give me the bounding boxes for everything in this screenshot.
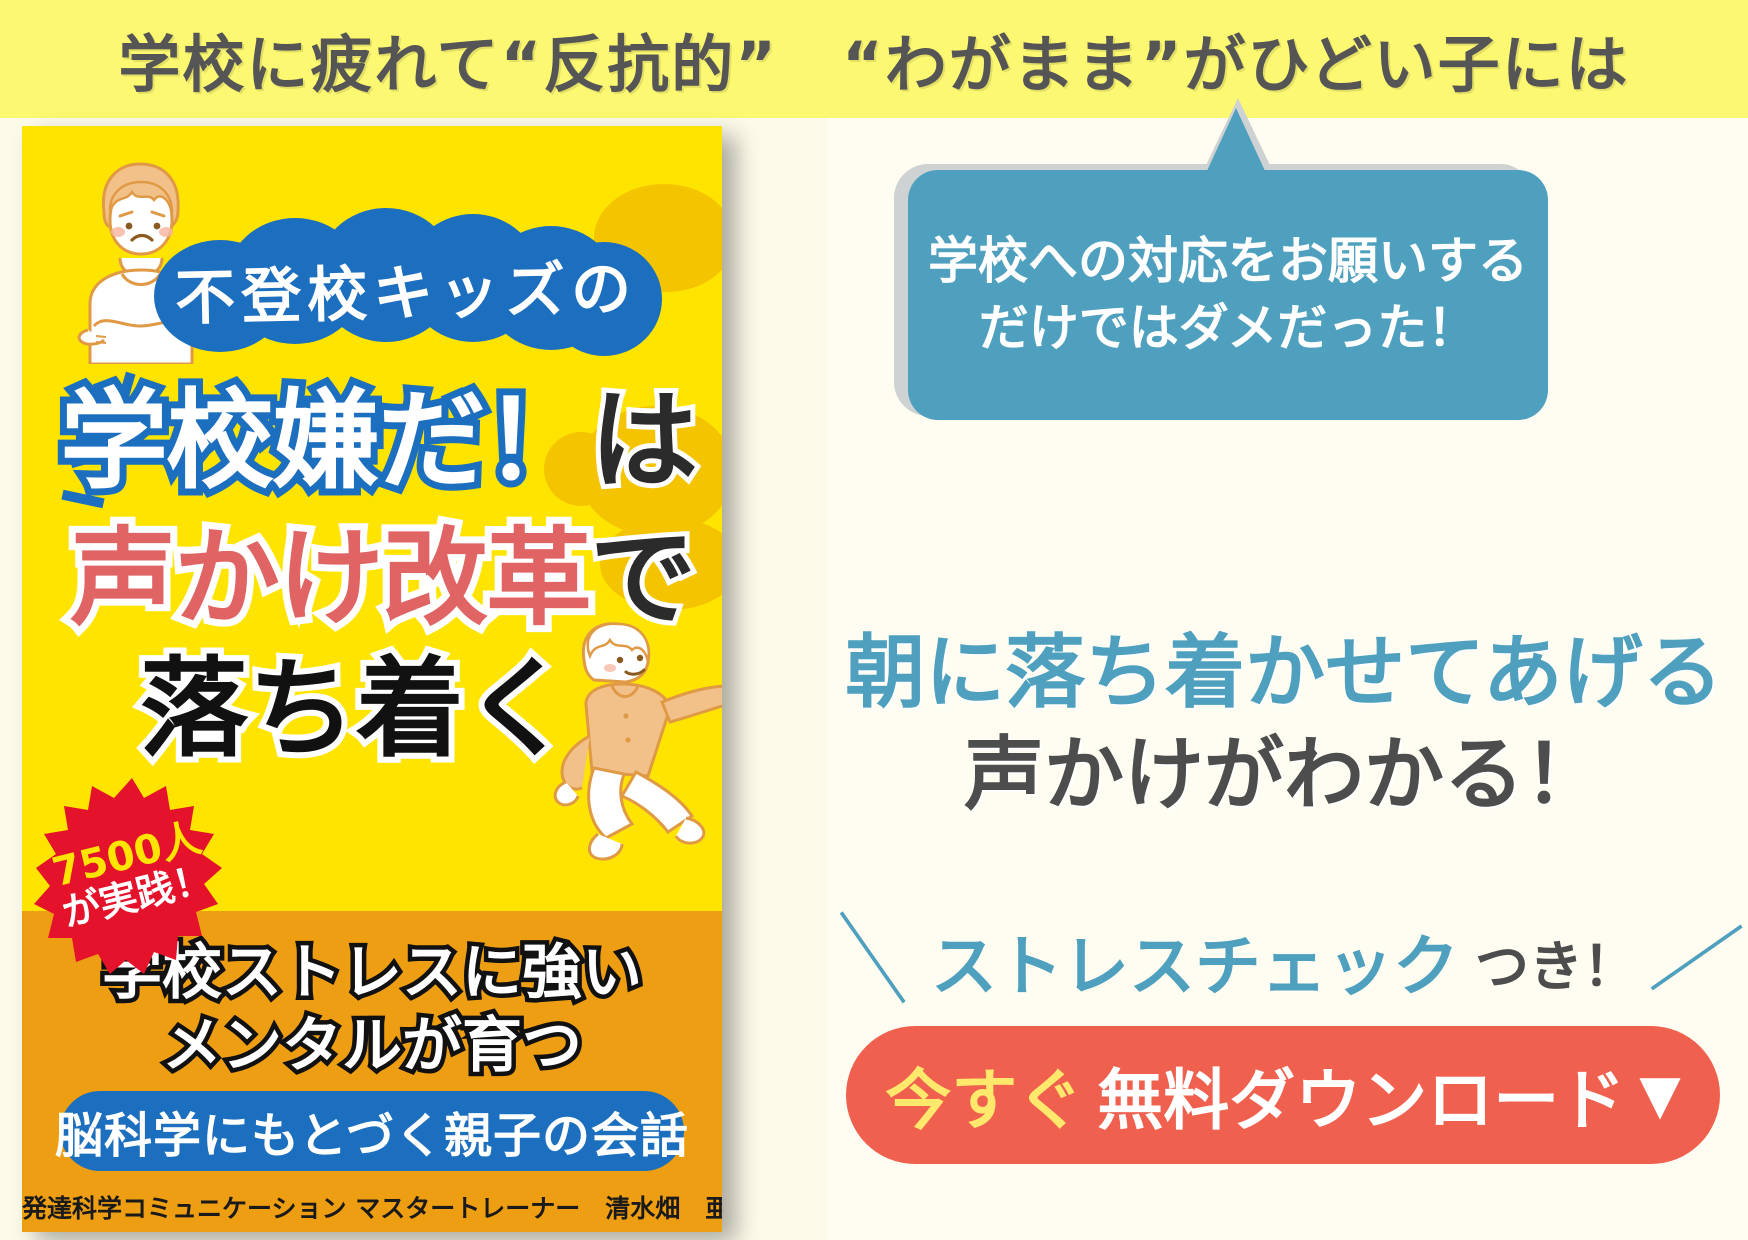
book-title-highlight-2: 声かけ改革	[70, 517, 590, 640]
cta-accent-label: 今すぐ	[885, 1047, 1083, 1143]
download-cta-button[interactable]: 今すぐ 無料ダウンロード ▼	[846, 1026, 1720, 1164]
book-blob-label: 不登校キッズの	[159, 217, 654, 359]
header-banner: 学校に疲れて“反抗的” “わがまま”がひどい子には	[0, 0, 1748, 118]
stress-check-row: ＼ ストレスチェック つき！ ／	[820, 906, 1748, 1016]
headline-line-1: 朝に落ち着かせてあげる	[820, 608, 1748, 724]
book-pill-text: 脳科学にもとづく親子の会話	[55, 1096, 689, 1166]
author-credit: 発達科学コミュニケーション マスタートレーナー 清水畑 亜希子	[22, 1189, 722, 1225]
speech-bubble-tail	[1200, 108, 1272, 186]
triangle-down-icon: ▼	[1639, 1068, 1681, 1122]
cta-main-label: 無料ダウンロード	[1097, 1047, 1625, 1143]
book-title-tail-2: で	[590, 517, 696, 640]
speech-bubble-line-1: 学校への対応をお願いする	[928, 228, 1528, 296]
speech-bubble: 学校への対応をお願いする だけではダメだった！	[908, 170, 1548, 440]
speech-bubble-body: 学校への対応をお願いする だけではダメだった！	[908, 170, 1548, 420]
stress-check-tail-text: つき！	[1475, 922, 1637, 1001]
book-title-line-1: 学校嫌だ！は	[60, 388, 700, 496]
page-title: 学校に疲れて“反抗的” “わがまま”がひどい子には	[118, 14, 1629, 104]
speech-bubble-line-2: だけではダメだった！	[979, 295, 1478, 363]
slash-right-icon: ／	[1646, 911, 1746, 1011]
book-subtitle-line-2: メンタルが育つ	[22, 1010, 722, 1083]
book-cover-image: 不登校キッズの 学校嫌だ！は 声かけ改革で 落ち着く	[22, 126, 722, 1232]
book-title-tail-1: は	[590, 379, 698, 504]
book-title-highlight-1: 学校嫌だ！	[60, 379, 590, 504]
stress-check-main-text: ストレスチェック	[931, 913, 1459, 1009]
book-title-line-2: 声かけ改革で	[70, 526, 710, 632]
book-title-line-3: 落ち着く	[140, 656, 722, 764]
slash-left-icon: ＼	[822, 911, 922, 1011]
book-pill-label: 脳科学にもとづく親子の会話	[60, 1091, 684, 1171]
headline-line-2: 声かけがわかる！	[820, 710, 1748, 826]
content-stage: 不登校キッズの 学校嫌だ！は 声かけ改革で 落ち着く	[0, 118, 1748, 1240]
practice-count-badge	[32, 776, 232, 976]
